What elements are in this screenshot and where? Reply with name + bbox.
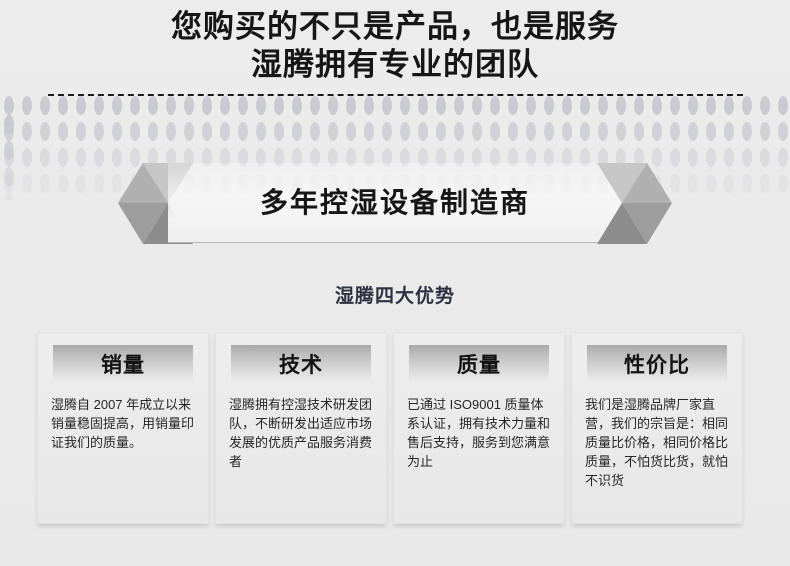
pattern-dot xyxy=(4,193,14,200)
dot-row-1 xyxy=(0,96,790,118)
pattern-dot xyxy=(778,148,788,167)
pattern-dot xyxy=(490,96,500,115)
pattern-dot xyxy=(40,148,50,167)
pattern-dot xyxy=(202,122,212,141)
pattern-dot xyxy=(58,174,68,193)
advantage-card-sales[interactable]: 销量 湿腾自 2007 年成立以来销量稳固提高，用销量印证我们的质量。 xyxy=(37,332,209,524)
pattern-dot xyxy=(220,122,230,141)
advantage-card-title: 销量 xyxy=(53,345,193,387)
advantage-card-technology[interactable]: 技术 湿腾拥有控湿技术研发团队，不断研发出适应市场发展的优质产品服务消费者 xyxy=(215,332,387,524)
pattern-dot xyxy=(544,122,554,141)
pattern-dot xyxy=(148,96,158,115)
pattern-dot xyxy=(688,174,698,193)
pattern-dot xyxy=(382,96,392,115)
pattern-dot xyxy=(22,122,32,141)
pattern-dot xyxy=(346,96,356,115)
pattern-dot xyxy=(40,122,50,141)
headline-line-1: 您购买的不只是产品，也是服务 xyxy=(0,8,790,46)
pattern-dot xyxy=(4,148,14,167)
pattern-dot xyxy=(634,122,644,141)
pattern-dot xyxy=(58,148,68,167)
pattern-dot xyxy=(760,96,770,115)
pattern-dot xyxy=(742,174,752,193)
pattern-dot xyxy=(274,122,284,141)
pattern-dot xyxy=(22,96,32,115)
pattern-dot xyxy=(652,122,662,141)
pattern-dot xyxy=(94,122,104,141)
pattern-dot xyxy=(598,122,608,141)
pattern-dot xyxy=(76,96,86,115)
pattern-dot xyxy=(688,148,698,167)
pattern-dot xyxy=(742,122,752,141)
ribbon-title: 多年控湿设备制造商 xyxy=(168,163,622,243)
pattern-dot xyxy=(292,122,302,141)
pattern-dot xyxy=(40,174,50,193)
advantage-card-body: 湿腾自 2007 年成立以来销量稳固提高，用销量印证我们的质量。 xyxy=(49,395,197,452)
pattern-dot xyxy=(364,96,374,115)
pattern-dot xyxy=(166,122,176,141)
page-headline: 您购买的不只是产品，也是服务 湿腾拥有专业的团队 xyxy=(0,8,790,84)
pattern-dot xyxy=(22,148,32,167)
advantages-heading: 湿腾四大优势 xyxy=(0,281,790,308)
pattern-dot xyxy=(706,122,716,141)
pattern-dot xyxy=(706,148,716,167)
pattern-dot xyxy=(436,122,446,141)
pattern-dot xyxy=(670,122,680,141)
pattern-dot xyxy=(130,96,140,115)
pattern-dot xyxy=(616,122,626,141)
pattern-dot xyxy=(580,96,590,115)
pattern-dot xyxy=(310,122,320,141)
pattern-dot xyxy=(670,96,680,115)
pattern-dot xyxy=(562,122,572,141)
pattern-dot xyxy=(256,122,266,141)
pattern-dot xyxy=(238,96,248,115)
pattern-dot xyxy=(454,96,464,115)
advantage-card-list: 销量 湿腾自 2007 年成立以来销量稳固提高，用销量印证我们的质量。 技术 湿… xyxy=(37,332,753,524)
pattern-dot xyxy=(4,96,14,115)
ribbon-banner: 多年控湿设备制造商 xyxy=(118,163,672,244)
pattern-dot xyxy=(58,96,68,115)
advantage-card-title: 性价比 xyxy=(587,345,727,387)
pattern-dot xyxy=(526,96,536,115)
pattern-dot xyxy=(76,148,86,167)
pattern-dot xyxy=(238,122,248,141)
pattern-dot xyxy=(4,174,14,193)
pattern-dot xyxy=(634,96,644,115)
pattern-dot xyxy=(94,96,104,115)
pattern-dot xyxy=(58,122,68,141)
pattern-dot xyxy=(724,148,734,167)
pattern-dot xyxy=(508,96,518,115)
pattern-dot xyxy=(724,174,734,193)
pattern-dot xyxy=(382,122,392,141)
pattern-dot xyxy=(760,122,770,141)
pattern-dot xyxy=(292,96,302,115)
headline-line-2: 湿腾拥有专业的团队 xyxy=(0,46,790,84)
pattern-dot xyxy=(94,174,104,193)
pattern-dot xyxy=(274,96,284,115)
pattern-dot xyxy=(4,122,14,141)
pattern-dot xyxy=(778,96,788,115)
pattern-dot xyxy=(526,122,536,141)
pattern-dot xyxy=(22,174,32,193)
pattern-dot xyxy=(400,96,410,115)
pattern-dot xyxy=(472,122,482,141)
pattern-dot xyxy=(760,174,770,193)
pattern-dot xyxy=(652,96,662,115)
pattern-dot xyxy=(472,96,482,115)
promo-page: 您购买的不只是产品，也是服务 湿腾拥有专业的团队 多年控湿设备制造商 湿腾四大优… xyxy=(0,0,790,566)
advantage-card-body: 我们是湿腾品牌厂家直营，我们的宗旨是：相同质量比价格，相同价格比质量，不怕货比货… xyxy=(583,395,731,490)
pattern-dot xyxy=(130,122,140,141)
pattern-dot xyxy=(706,96,716,115)
pattern-dot xyxy=(346,122,356,141)
pattern-dot xyxy=(688,122,698,141)
advantage-card-title: 质量 xyxy=(409,345,549,387)
pattern-dot xyxy=(40,96,50,115)
pattern-dot xyxy=(742,148,752,167)
pattern-dot xyxy=(112,96,122,115)
pattern-dot xyxy=(580,122,590,141)
pattern-dot xyxy=(778,174,788,193)
pattern-dot xyxy=(724,122,734,141)
ribbon-right-hexagon-icon xyxy=(572,163,672,244)
pattern-dot xyxy=(544,96,554,115)
pattern-dot xyxy=(742,96,752,115)
pattern-dot xyxy=(508,122,518,141)
pattern-dot xyxy=(688,96,698,115)
pattern-dot xyxy=(310,96,320,115)
pattern-dot xyxy=(418,122,428,141)
pattern-dot xyxy=(400,122,410,141)
pattern-dot xyxy=(616,96,626,115)
pattern-dot xyxy=(94,148,104,167)
advantage-card-body: 湿腾拥有控湿技术研发团队，不断研发出适应市场发展的优质产品服务消费者 xyxy=(227,395,375,471)
dot-row-2 xyxy=(0,122,790,144)
dashed-divider-line xyxy=(48,94,743,96)
advantage-card-value[interactable]: 性价比 我们是湿腾品牌厂家直营，我们的宗旨是：相同质量比价格，相同价格比质量，不… xyxy=(571,332,743,524)
pattern-dot xyxy=(256,96,266,115)
pattern-dot xyxy=(76,174,86,193)
pattern-dot xyxy=(706,174,716,193)
pattern-dot xyxy=(760,148,770,167)
pattern-dot xyxy=(166,96,176,115)
pattern-dot xyxy=(202,96,212,115)
pattern-dot xyxy=(148,122,158,141)
advantage-card-title: 技术 xyxy=(231,345,371,387)
pattern-dot xyxy=(724,96,734,115)
advantage-card-body: 已通过 ISO9001 质量体系认证，拥有技术力量和售后支持，服务到您满意为止 xyxy=(405,395,553,471)
pattern-dot xyxy=(184,96,194,115)
pattern-dot xyxy=(328,96,338,115)
pattern-dot xyxy=(490,122,500,141)
pattern-dot xyxy=(184,122,194,141)
pattern-dot xyxy=(76,122,86,141)
pattern-dot xyxy=(598,96,608,115)
pattern-dot xyxy=(454,122,464,141)
pattern-dot xyxy=(778,122,788,141)
pattern-dot xyxy=(364,122,374,141)
pattern-dot xyxy=(562,96,572,115)
pattern-dot xyxy=(112,122,122,141)
pattern-dot xyxy=(436,96,446,115)
pattern-dot xyxy=(328,122,338,141)
advantage-card-quality[interactable]: 质量 已通过 ISO9001 质量体系认证，拥有技术力量和售后支持，服务到您满意… xyxy=(393,332,565,524)
pattern-dot xyxy=(418,96,428,115)
pattern-dot xyxy=(220,96,230,115)
